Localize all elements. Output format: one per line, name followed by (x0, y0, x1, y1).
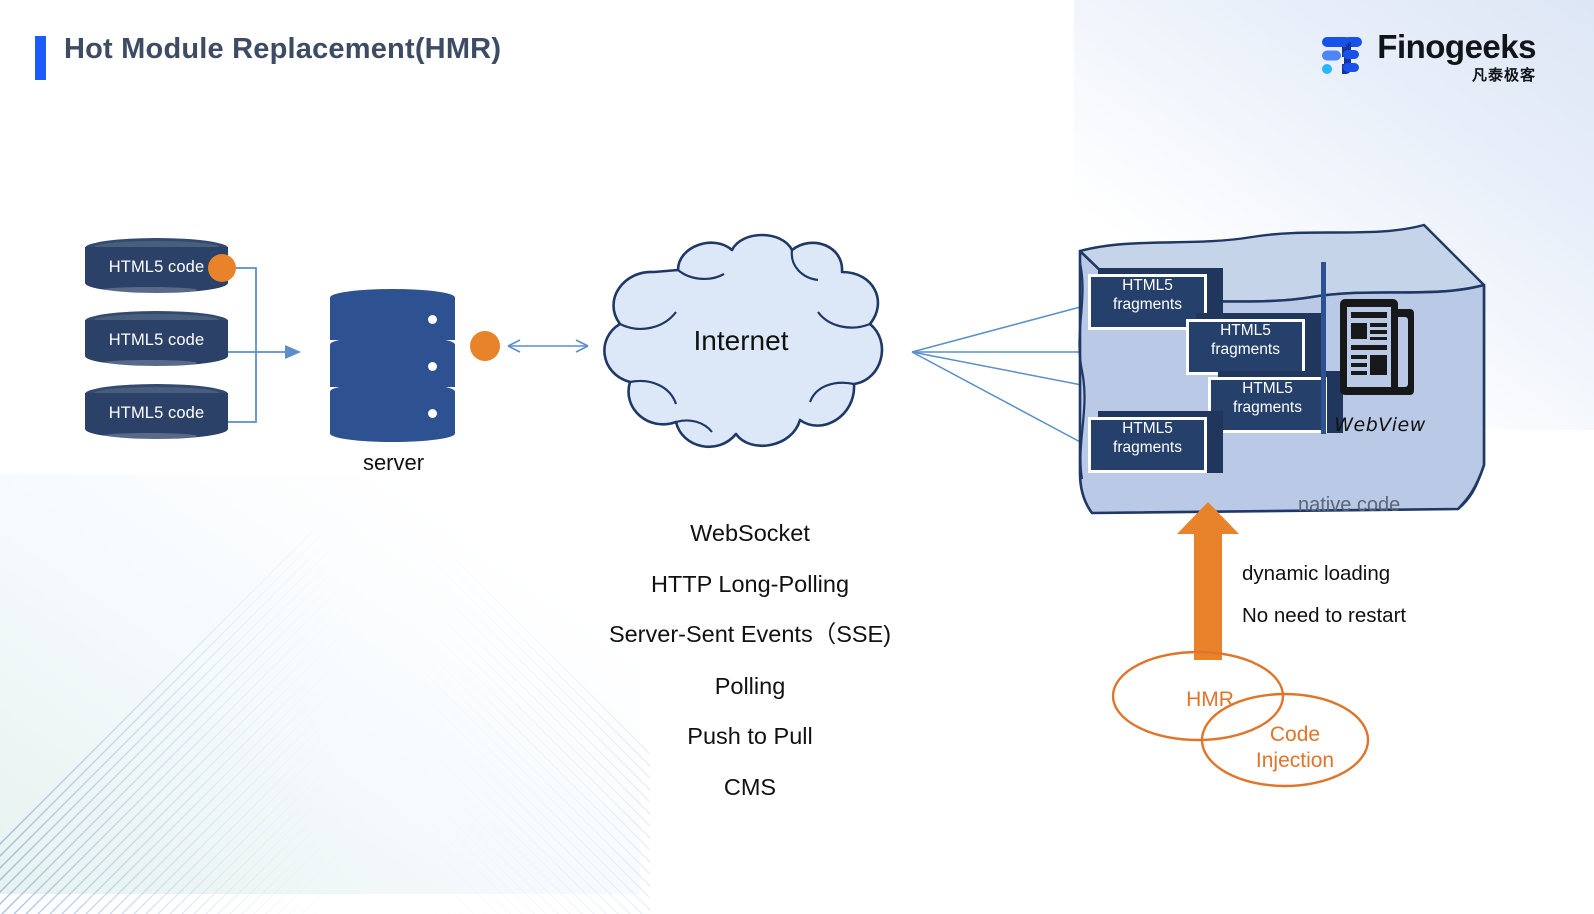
note-dynamic-loading: dynamic loading (1242, 562, 1390, 586)
orange-change-marker-dot (208, 254, 236, 282)
cylinder-label: HTML5 code (85, 258, 228, 277)
fragment-line-1: HTML5 (1186, 321, 1305, 340)
orange-server-marker-dot (470, 331, 500, 361)
code-injection-line-2: Injection (1240, 748, 1350, 774)
fragment-line-1: HTML5 (1088, 419, 1207, 438)
page-title: Hot Module Replacement(HMR) (64, 33, 501, 66)
server-label: server (306, 450, 481, 476)
protocol-item-websocket: WebSocket (470, 522, 1030, 546)
fragment-line-2: fragments (1088, 295, 1207, 314)
protocol-list: WebSocket HTTP Long-Polling Server-Sent … (470, 522, 1030, 799)
note-no-restart: No need to restart (1242, 604, 1406, 628)
cylinder-sheen (101, 287, 197, 293)
code-injection-line-1: Code (1240, 722, 1350, 748)
protocol-item-polling: Polling (470, 675, 1030, 699)
code-injection-label: Code Injection (1240, 722, 1350, 774)
server-database-icon (330, 288, 455, 424)
newspaper-document-icon (1336, 293, 1420, 403)
finogeeks-f-mark-icon (1319, 33, 1365, 79)
page-header: Hot Module Replacement(HMR) Finogeeks 凡泰… (0, 0, 1594, 110)
cylinder-sheen (101, 433, 197, 439)
protocol-item-http-long-polling: HTTP Long-Polling (470, 573, 1030, 597)
logo-subtitle: 凡泰极客 (1472, 68, 1536, 83)
server-cloud-bidirectional-arrow (498, 334, 598, 358)
protocol-item-push-to-pull: Push to Pull (470, 725, 1030, 749)
fragment-line-2: fragments (1186, 340, 1305, 359)
hmr-label: HMR (1170, 688, 1250, 712)
html5-code-cylinder-3: HTML5 code (85, 384, 228, 446)
html5-fragment-block-2: HTML5 fragments (1186, 313, 1311, 375)
webview-divider (1321, 262, 1326, 434)
dynamic-loading-arrow-icon (1177, 502, 1239, 662)
arrow-head-to-server (285, 345, 301, 359)
logo-text: Finogeeks 凡泰极客 (1377, 30, 1536, 83)
html5-fragment-block-4: HTML5 fragments (1088, 411, 1213, 473)
native-code-label: native code (1298, 494, 1400, 517)
logo-name: Finogeeks (1377, 30, 1536, 63)
html5-code-cylinder-1: HTML5 code (85, 238, 228, 300)
cylinder-sheen (101, 360, 197, 366)
fragment-line-2: fragments (1088, 438, 1207, 457)
fragment-line-2: fragments (1208, 398, 1327, 417)
fragment-line-1: HTML5 (1208, 379, 1327, 398)
webview-label: WebView (1330, 414, 1430, 436)
brand-logo: Finogeeks 凡泰极客 (1319, 24, 1536, 88)
cylinder-label: HTML5 code (85, 331, 228, 350)
cylinder-label: HTML5 code (85, 404, 228, 423)
title-accent-bar (35, 36, 46, 80)
fragment-line-1: HTML5 (1088, 276, 1207, 295)
protocol-item-cms: CMS (470, 776, 1030, 800)
html5-code-cylinder-2: HTML5 code (85, 311, 228, 373)
protocol-item-server-sent-events: Server-Sent Events（SSE) (470, 623, 1030, 647)
html5-fragment-block-3: HTML5 fragments (1208, 371, 1333, 433)
internet-label: Internet (586, 325, 896, 357)
